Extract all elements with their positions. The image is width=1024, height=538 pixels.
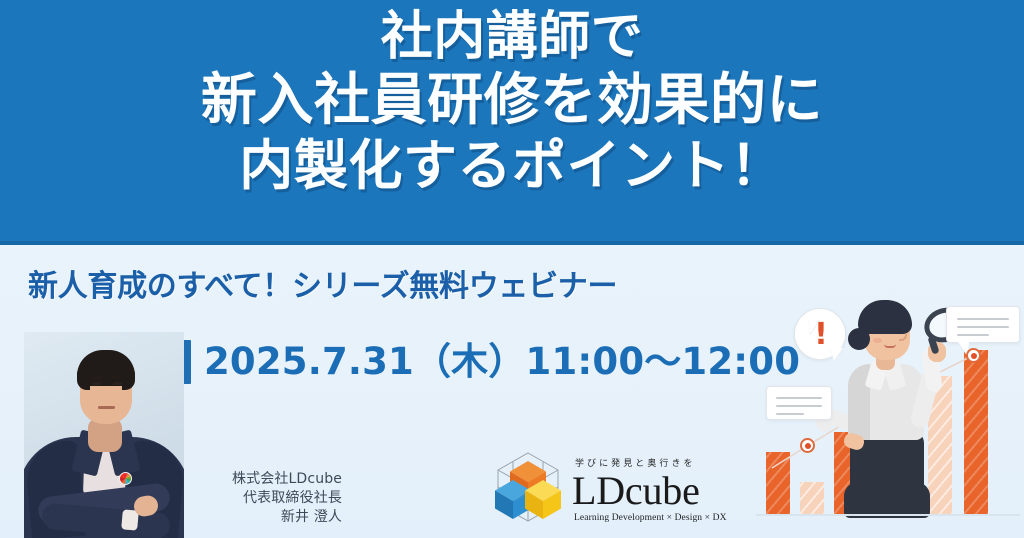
presenter-eye-right <box>113 382 122 385</box>
data-point-marker-left <box>800 438 815 453</box>
presenter-company: 株式会社LDcube <box>150 470 342 489</box>
presenter-name: 新井 澄人 <box>150 508 342 527</box>
presenter-eye-left <box>92 382 101 385</box>
figure-cheek <box>873 338 882 343</box>
ldcube-logo: 学びに発見と奥行きを LDcube Learning Development ×… <box>492 448 704 532</box>
exclamation-bubble-tail <box>830 348 843 361</box>
figure-eyebrow-left <box>876 322 886 324</box>
presenter-position: 代表取締役社長 <box>150 489 342 508</box>
header-band: 社内講師で 新入社員研修を効果的に 内製化するポイント！ <box>0 0 1024 245</box>
sdgs-pin-icon <box>119 472 132 485</box>
growth-chart-illustration: ! <box>752 286 1024 538</box>
title-line-3: 内製化するポイント！ <box>0 134 1024 198</box>
page-title: 社内講師で 新入社員研修を効果的に 内製化するポイント！ <box>0 6 1024 198</box>
title-line-2: 新入社員研修を効果的に <box>0 68 1024 134</box>
speech-bubble-left <box>766 386 832 420</box>
presenter-hair-side-left <box>77 366 90 390</box>
ldcube-logo-text: 学びに発見と奥行きを LDcube Learning Development ×… <box>572 456 727 524</box>
speech-bubble-left-tail <box>808 319 820 334</box>
webinar-banner: 社内講師で 新入社員研修を効果的に 内製化するポイント！ 新人育成のすべて！シリ… <box>0 0 1024 538</box>
chart-baseline <box>756 514 1020 516</box>
logo-wordmark: LDcube <box>572 470 727 512</box>
logo-subline: Learning Development × Design × DX <box>572 512 727 524</box>
date-time-row: 2025.7.31（木）11:00〜12:00 <box>182 340 800 384</box>
cube-logo-svg <box>492 449 564 531</box>
title-line-1: 社内講師で <box>0 6 1024 68</box>
date-time-text: 2025.7.31（木）11:00〜12:00 <box>204 341 800 383</box>
figure-eyebrow-right <box>893 322 903 324</box>
bubble-text-line <box>957 326 1009 328</box>
figure-eye-left <box>878 328 884 334</box>
presenter-info: 株式会社LDcube 代表取締役社長 新井 澄人 <box>150 470 342 527</box>
bubble-text-line <box>776 413 804 415</box>
bubble-text-line <box>957 334 989 336</box>
bubble-text-line <box>957 318 1009 320</box>
bubble-text-line <box>776 397 822 399</box>
presenter-mouth <box>98 406 115 409</box>
data-point-marker-right <box>966 348 981 363</box>
figure-skirt-hem <box>844 482 930 518</box>
speech-bubble-top-right <box>946 306 1020 343</box>
series-subtitle: 新人育成のすべて！シリーズ無料ウェビナー <box>28 270 617 304</box>
ldcube-cube-icon <box>492 449 564 531</box>
bubble-text-line <box>776 405 822 407</box>
